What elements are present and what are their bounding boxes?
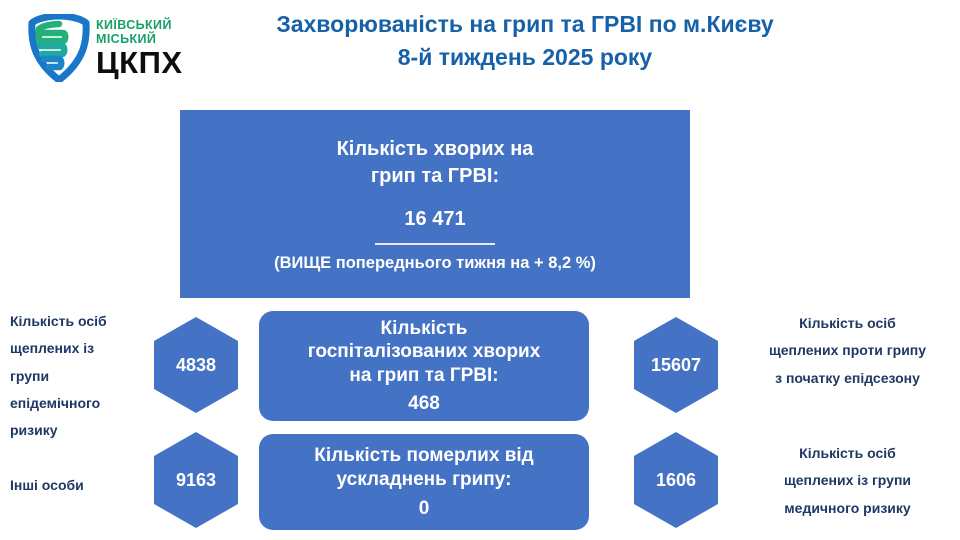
label-epidemic-risk-line-2: щеплених із [10, 335, 150, 362]
label-vaccinated-season-line-1: Кількість осіб [740, 310, 955, 337]
label-medical-risk-line-2: щеплених із групи [740, 467, 955, 494]
total-cases-heading-line-1: Кількість хворих на [337, 136, 534, 163]
hexagon-other-persons-value: 9163 [176, 470, 216, 491]
hospitalized-heading: Кількість госпіталізованих хворих на гри… [308, 317, 541, 388]
label-vaccinated-season: Кількість осіб щеплених проти грипу з по… [740, 310, 955, 392]
hexagon-medical-risk-group: 1606 [634, 432, 718, 528]
logo-wordmark: КИЇВСЬКИЙ МІСЬКИЙ ЦКПХ [96, 19, 183, 78]
label-epidemic-risk-line-1: Кількість осіб [10, 308, 150, 335]
label-epidemic-risk-line-3: групи [10, 363, 150, 390]
hexagon-epidemic-risk-value: 4838 [176, 355, 216, 376]
hospitalized-heading-line-2: госпіталізованих хворих [308, 340, 541, 364]
shield-icon [28, 14, 90, 82]
infographic-canvas: КИЇВСЬКИЙ МІСЬКИЙ ЦКПХ Захворюваність на… [0, 0, 960, 540]
page-title-line-2: 8-й тиждень 2025 року [180, 41, 870, 74]
label-medical-risk-group: Кількість осіб щеплених із групи медично… [740, 440, 955, 522]
total-cases-change-note: (ВИЩЕ попереднього тижня на + 8,2 %) [274, 254, 596, 273]
label-medical-risk-line-1: Кількість осіб [740, 440, 955, 467]
deaths-heading: Кількість померлих від ускладнень грипу: [314, 444, 533, 491]
label-other-persons-line-1: Інші особи [10, 472, 150, 499]
divider [375, 243, 495, 245]
deaths-card: Кількість померлих від ускладнень грипу:… [259, 434, 589, 530]
hexagon-other-persons: 9163 [154, 432, 238, 528]
page-title-line-1: Захворюваність на грип та ГРВІ по м.Києв… [180, 8, 870, 41]
page-title: Захворюваність на грип та ГРВІ по м.Києв… [180, 8, 870, 75]
deaths-value: 0 [419, 498, 430, 520]
hospitalized-heading-line-1: Кількість [308, 317, 541, 341]
label-other-persons: Інші особи [10, 472, 150, 499]
total-cases-value: 16 471 [404, 208, 465, 231]
hospitalized-value: 468 [408, 393, 440, 415]
organization-logo: КИЇВСЬКИЙ МІСЬКИЙ ЦКПХ [28, 14, 183, 82]
hexagon-medical-risk-value: 1606 [656, 470, 696, 491]
hexagon-epidemic-risk-group: 4838 [154, 317, 238, 413]
label-vaccinated-season-line-2: щеплених проти грипу [740, 337, 955, 364]
total-cases-heading-line-2: грип та ГРВІ: [337, 163, 534, 190]
logo-acronym: ЦКПХ [96, 47, 183, 78]
hospitalized-heading-line-3: на грип та ГРВІ: [308, 364, 541, 388]
label-epidemic-risk-group: Кількість осіб щеплених із групи епідемі… [10, 308, 150, 444]
logo-line-1: КИЇВСЬКИЙ [96, 19, 183, 32]
hexagon-vaccinated-season-value: 15607 [651, 355, 701, 376]
total-cases-panel: Кількість хворих на грип та ГРВІ: 16 471… [180, 110, 690, 298]
hexagon-vaccinated-season: 15607 [634, 317, 718, 413]
label-medical-risk-line-3: медичного ризику [740, 495, 955, 522]
total-cases-heading: Кількість хворих на грип та ГРВІ: [337, 136, 534, 190]
logo-line-2: МІСЬКИЙ [96, 33, 183, 46]
label-vaccinated-season-line-3: з початку епідсезону [740, 365, 955, 392]
label-epidemic-risk-line-4: епідемічного [10, 390, 150, 417]
deaths-heading-line-2: ускладнень грипу: [314, 468, 533, 492]
label-epidemic-risk-line-5: ризику [10, 417, 150, 444]
deaths-heading-line-1: Кількість померлих від [314, 444, 533, 468]
hospitalized-card: Кількість госпіталізованих хворих на гри… [259, 311, 589, 421]
